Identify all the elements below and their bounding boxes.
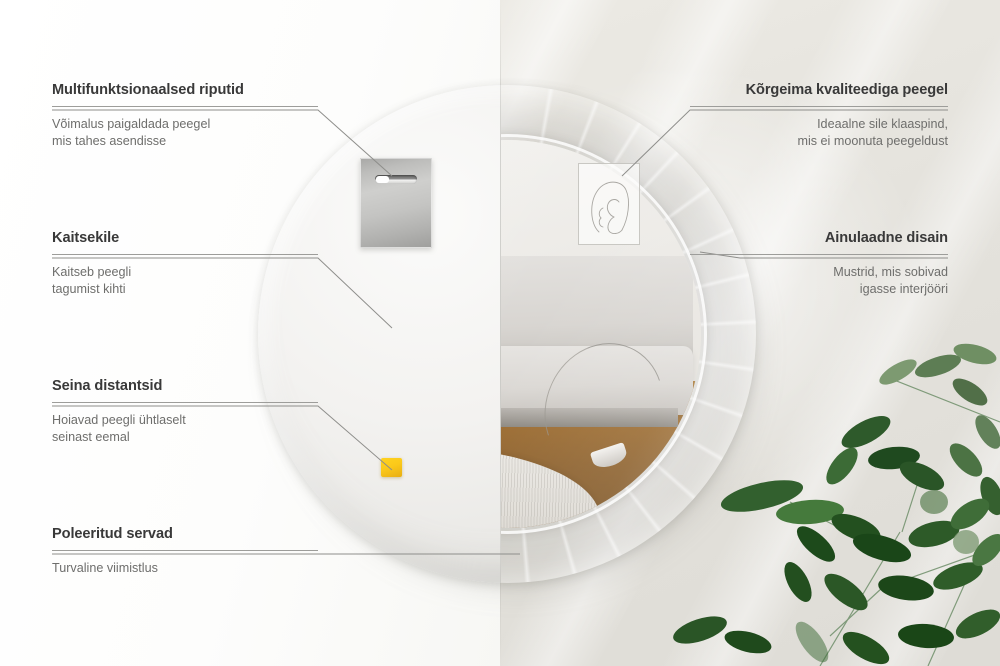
- callout-rule: [52, 106, 318, 107]
- callout-poleeritud-servad: Poleeritud servad Turvaline viimistlus: [52, 526, 318, 577]
- callout-rule: [52, 550, 318, 551]
- callout-rule: [52, 254, 318, 255]
- callout-title: Kõrgeima kvaliteediga peegel: [690, 82, 948, 98]
- callout-title: Seina distantsid: [52, 378, 318, 394]
- callout-body: Hoiavad peegli ühtlaselt seinast eemal: [52, 412, 318, 446]
- callout-rule: [52, 402, 318, 403]
- panel-seam-divider: [500, 0, 501, 666]
- callout-body: Ideaalne sile klaaspind, mis ei moonuta …: [690, 116, 948, 150]
- callout-seina-distantsid: Seina distantsid Hoiavad peegli ühtlasel…: [52, 378, 318, 446]
- infographic-canvas: Multifunktsionaalsed riputid Võimalus pa…: [0, 0, 1000, 666]
- callout-korgeima-kvaliteediga-peegel: Kõrgeima kvaliteediga peegel Ideaalne si…: [690, 82, 948, 150]
- metal-hanger-plate: [360, 158, 432, 248]
- callout-rule: [690, 254, 948, 255]
- callout-title: Multifunktsionaalsed riputid: [52, 82, 318, 98]
- callout-rule: [690, 106, 948, 107]
- hanger-slot-highlight: [376, 176, 389, 183]
- line-art-face-icon: [579, 164, 641, 246]
- callout-multifunktsionaalsed-riputid: Multifunktsionaalsed riputid Võimalus pa…: [52, 82, 318, 150]
- reflected-line-art-poster: [578, 163, 640, 245]
- callout-title: Ainulaadne disain: [690, 230, 948, 246]
- callout-kaitsekile: Kaitsekile Kaitseb peegli tagumist kihti: [52, 230, 318, 298]
- callout-body: Võimalus paigaldada peegel mis tahes ase…: [52, 116, 318, 150]
- eucalyptus-foliage: [670, 336, 1000, 666]
- callout-body: Turvaline viimistlus: [52, 560, 318, 577]
- callout-body: Kaitseb peegli tagumist kihti: [52, 264, 318, 298]
- callout-ainulaadne-disain: Ainulaadne disain Mustrid, mis sobivad i…: [690, 230, 948, 298]
- callout-body: Mustrid, mis sobivad igasse interjööri: [690, 264, 948, 298]
- callout-title: Poleeritud servad: [52, 526, 318, 542]
- yellow-wall-spacer: [381, 458, 402, 477]
- callout-title: Kaitsekile: [52, 230, 318, 246]
